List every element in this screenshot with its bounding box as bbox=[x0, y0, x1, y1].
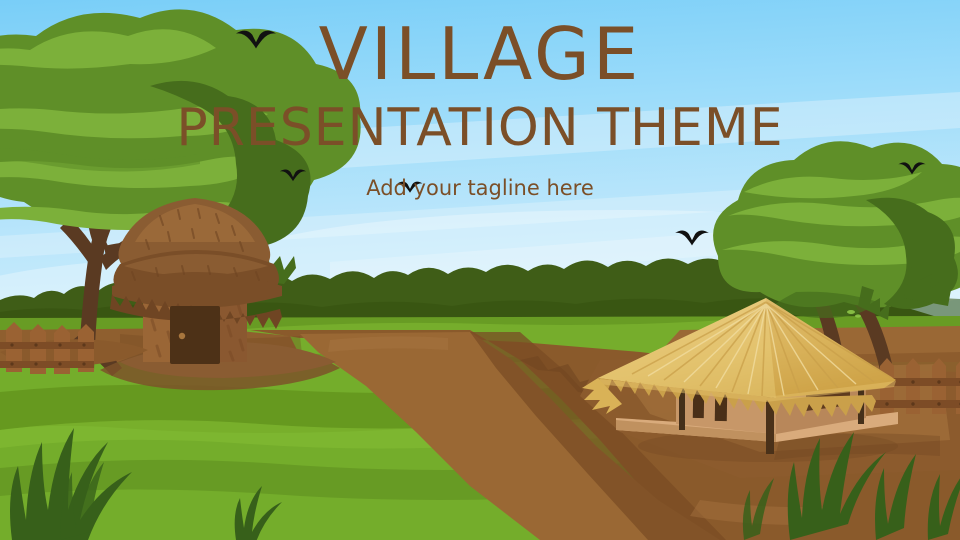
slide-canvas: VILLAGE PRESENTATION THEME Add your tagl… bbox=[0, 0, 960, 540]
hut-door-knob bbox=[179, 333, 185, 339]
slide-title-line2[interactable]: PRESENTATION THEME bbox=[0, 99, 960, 157]
slide-title-line1[interactable]: VILLAGE bbox=[0, 16, 960, 92]
hut-door bbox=[170, 306, 220, 364]
slide-tagline[interactable]: Add your tagline here bbox=[0, 175, 960, 201]
